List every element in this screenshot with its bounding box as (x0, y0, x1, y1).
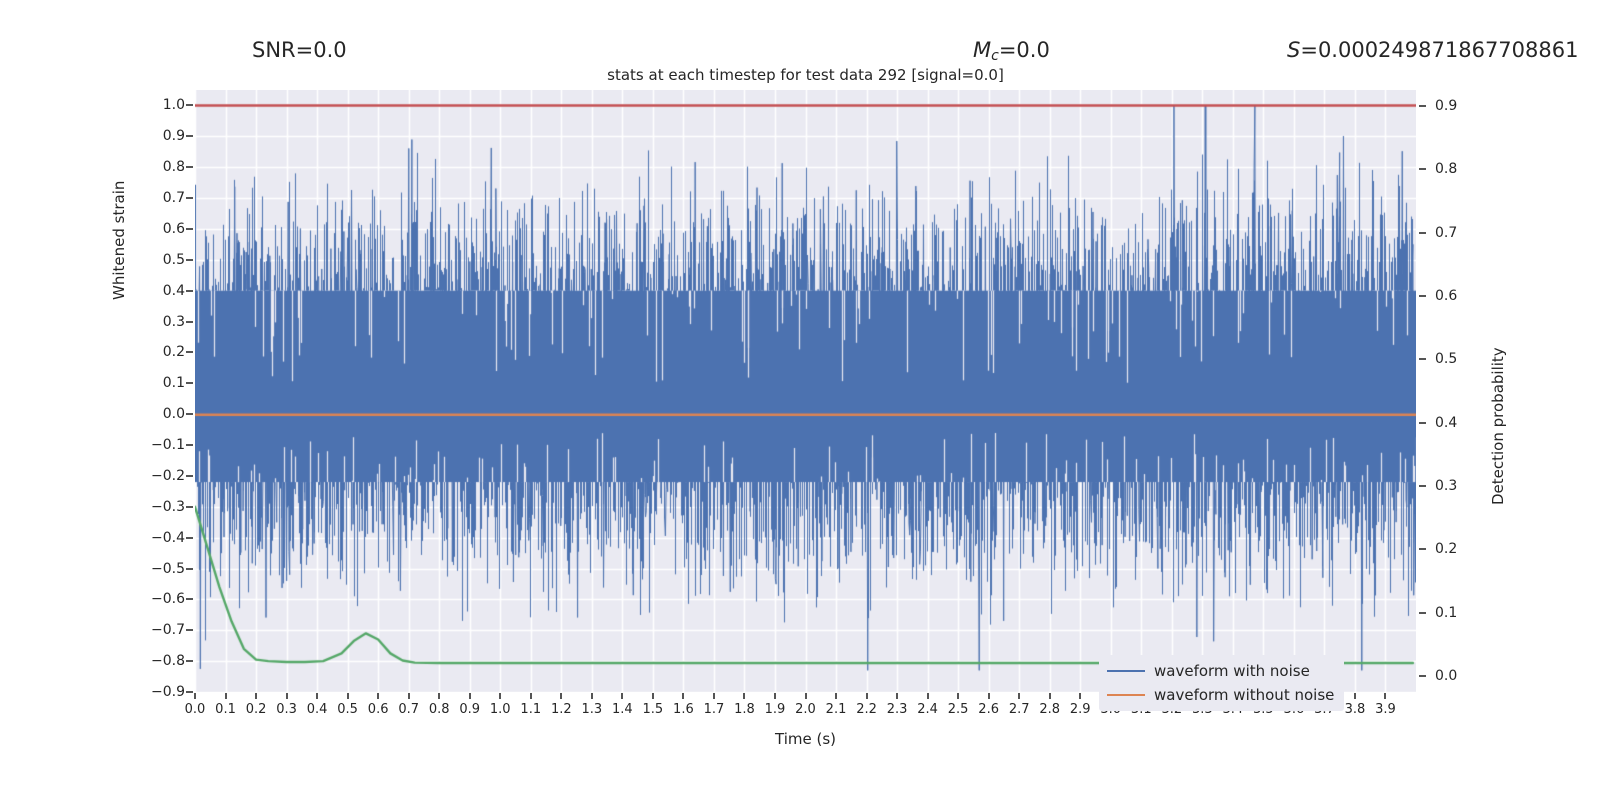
x-tick-mark (1354, 693, 1356, 699)
legend-label-noise: waveform with noise (1154, 662, 1310, 680)
y-tick-label-left: 0.9 (163, 128, 185, 144)
suptitle-mc-value: =0.0 (999, 38, 1050, 62)
x-tick-label: 3.9 (1365, 702, 1405, 718)
y-tick-label-right: 0.8 (1435, 161, 1457, 177)
y-tick-label-left: −0.5 (151, 561, 185, 577)
y-tick-mark-left (186, 629, 193, 631)
y-tick-mark-right (1419, 612, 1426, 614)
y-tick-mark-right (1419, 485, 1426, 487)
x-tick-mark (652, 693, 654, 699)
y-tick-label-right: 0.3 (1435, 478, 1457, 494)
x-tick-mark (896, 693, 898, 699)
y-tick-label-left: 0.0 (163, 406, 185, 422)
x-tick-mark (743, 693, 745, 699)
legend-label-clean: waveform without noise (1154, 686, 1334, 704)
x-tick-mark (255, 693, 257, 699)
x-axis-label: Time (s) (195, 730, 1416, 748)
x-tick-mark (377, 693, 379, 699)
y-tick-label-left: 0.8 (163, 159, 185, 175)
y-tick-mark-right (1419, 675, 1426, 677)
x-tick-mark (408, 693, 410, 699)
suptitle-snr-label: SNR= (252, 38, 313, 62)
y-tick-mark-left (186, 135, 193, 137)
x-tick-mark (866, 693, 868, 699)
y-tick-mark-left (186, 321, 193, 323)
suptitle-mc-subscript: c (991, 48, 999, 64)
y-tick-mark-left (186, 537, 193, 539)
y-tick-label-left: −0.3 (151, 499, 185, 515)
y-tick-label-left: −0.9 (151, 684, 185, 700)
y-tick-label-right: 0.4 (1435, 415, 1457, 431)
x-tick-mark (530, 693, 532, 699)
x-tick-mark (194, 693, 196, 699)
x-tick-mark (805, 693, 807, 699)
axes-title: stats at each timestep for test data 292… (195, 66, 1416, 84)
x-tick-mark (1049, 693, 1051, 699)
x-tick-mark (347, 693, 349, 699)
y-tick-label-left: −0.6 (151, 591, 185, 607)
x-tick-mark (225, 693, 227, 699)
y-tick-label-left: 1.0 (163, 97, 185, 113)
x-tick-mark (988, 693, 990, 699)
y-tick-mark-left (186, 444, 193, 446)
x-tick-mark (1079, 693, 1081, 699)
y-tick-label-left: 0.3 (163, 314, 185, 330)
y-tick-mark-right (1419, 358, 1426, 360)
y-tick-mark-right (1419, 295, 1426, 297)
suptitle-s-value: =0.000249871867708861 (1300, 38, 1578, 62)
y-axis-label-right: Detection probability (1489, 347, 1507, 505)
y-tick-label-left: 0.4 (163, 283, 185, 299)
y-tick-mark-left (186, 259, 193, 261)
y-tick-mark-right (1419, 168, 1426, 170)
x-tick-mark (682, 693, 684, 699)
plot-area (195, 90, 1416, 692)
y-tick-label-left: −0.2 (151, 468, 185, 484)
y-tick-label-left: 0.5 (163, 252, 185, 268)
y-tick-label-left: 0.7 (163, 190, 185, 206)
x-tick-mark (957, 693, 959, 699)
suptitle-chirp-mass: Mc=0.0 (973, 36, 1050, 64)
y-tick-label-right: 0.1 (1435, 605, 1457, 621)
figure-root: SNR=0.0 Mc=0.0 S=0.000249871867708861 st… (0, 0, 1600, 800)
x-tick-mark (499, 693, 501, 699)
x-tick-mark (316, 693, 318, 699)
suptitle-significance: S=0.000249871867708861 (1287, 36, 1578, 64)
legend: waveform with noise waveform without noi… (1099, 655, 1344, 711)
suptitle-mc-label: M (973, 38, 991, 62)
x-tick-mark (835, 693, 837, 699)
y-tick-mark-right (1419, 105, 1426, 107)
y-tick-label-left: −0.7 (151, 622, 185, 638)
y-tick-label-left: −0.1 (151, 437, 185, 453)
y-tick-mark-left (186, 691, 193, 693)
y-tick-label-right: 0.7 (1435, 225, 1457, 241)
y-tick-mark-right (1419, 548, 1426, 550)
legend-swatch-noise (1107, 670, 1145, 672)
y-tick-mark-left (186, 598, 193, 600)
suptitle-snr: SNR=0.0 (252, 36, 347, 64)
x-tick-mark (927, 693, 929, 699)
x-tick-mark (560, 693, 562, 699)
y-tick-mark-right (1419, 422, 1426, 424)
plot-canvas (195, 90, 1416, 692)
legend-item: waveform without noise (1107, 685, 1334, 705)
y-tick-mark-left (186, 506, 193, 508)
x-tick-mark (1384, 693, 1386, 699)
y-tick-label-left: 0.6 (163, 221, 185, 237)
y-tick-mark-left (186, 413, 193, 415)
y-tick-mark-left (186, 568, 193, 570)
y-tick-mark-left (186, 382, 193, 384)
x-tick-mark (1018, 693, 1020, 699)
x-tick-mark (286, 693, 288, 699)
y-tick-mark-left (186, 104, 193, 106)
y-tick-label-right: 0.5 (1435, 351, 1457, 367)
y-tick-mark-right (1419, 232, 1426, 234)
x-tick-mark (438, 693, 440, 699)
suptitle-s-label: S (1287, 38, 1300, 62)
x-tick-mark (469, 693, 471, 699)
y-tick-mark-left (186, 166, 193, 168)
y-tick-label-left: 0.1 (163, 375, 185, 391)
y-tick-mark-left (186, 290, 193, 292)
x-tick-mark (591, 693, 593, 699)
y-axis-label-left: Whitened strain (110, 181, 128, 300)
y-tick-mark-left (186, 660, 193, 662)
y-tick-mark-left (186, 351, 193, 353)
y-tick-label-left: −0.4 (151, 530, 185, 546)
legend-swatch-clean (1107, 694, 1145, 696)
suptitle-snr-value: 0.0 (313, 38, 346, 62)
x-tick-mark (621, 693, 623, 699)
y-tick-label-right: 0.6 (1435, 288, 1457, 304)
x-tick-mark (774, 693, 776, 699)
y-tick-label-right: 0.9 (1435, 98, 1457, 114)
y-tick-mark-left (186, 228, 193, 230)
y-tick-label-left: 0.2 (163, 344, 185, 360)
x-tick-mark (713, 693, 715, 699)
legend-item: waveform with noise (1107, 661, 1334, 681)
y-tick-label-left: −0.8 (151, 653, 185, 669)
y-tick-label-right: 0.0 (1435, 668, 1457, 684)
y-tick-label-right: 0.2 (1435, 541, 1457, 557)
y-tick-mark-left (186, 197, 193, 199)
y-tick-mark-left (186, 475, 193, 477)
